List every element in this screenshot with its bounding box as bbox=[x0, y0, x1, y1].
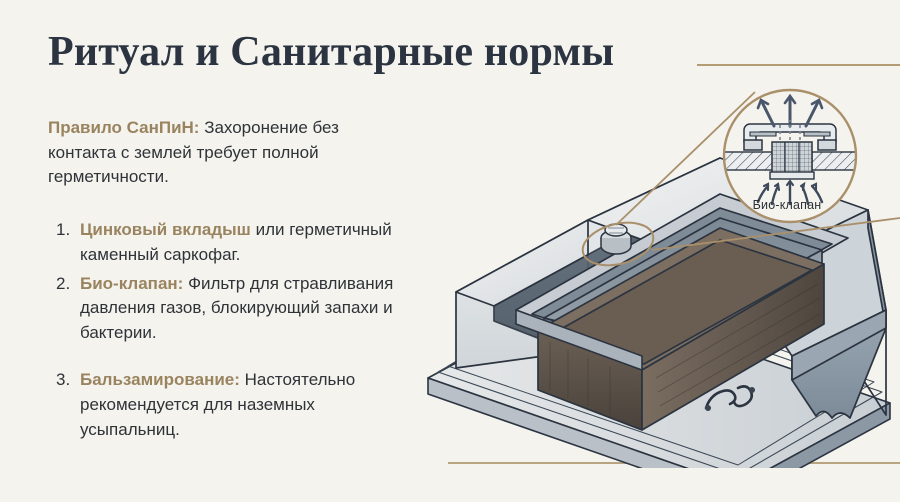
list-item-term: Бальзамирование: bbox=[80, 370, 240, 389]
filter-cartridge bbox=[770, 142, 814, 179]
title-rule-top bbox=[697, 64, 900, 66]
inset-label: Био-клапан bbox=[737, 198, 837, 212]
list-item-number: 2. bbox=[56, 272, 70, 297]
list-item-term: Био-клапан: bbox=[80, 274, 183, 293]
list-item: 3.Бальзамирование: Настоятельно рекоменд… bbox=[56, 368, 416, 442]
list-item-number: 3. bbox=[56, 368, 70, 393]
list-item: 2.Био-клапан: Фильтр для стравливания да… bbox=[56, 272, 416, 346]
slide-root: Ритуал и Санитарные нормы Правило СанПиН… bbox=[0, 0, 900, 502]
list-item: 1.Цинковый вкладыш или герметичный камен… bbox=[56, 218, 416, 268]
list-item-term: Цинковый вкладыш bbox=[80, 220, 251, 239]
lead-paragraph: Правило СанПиН: Захоронение без контакта… bbox=[48, 116, 398, 190]
requirements-list: 1.Цинковый вкладыш или герметичный камен… bbox=[56, 218, 416, 447]
page-title: Ритуал и Санитарные нормы bbox=[48, 28, 614, 76]
list-item-number: 1. bbox=[56, 218, 70, 243]
lead-label: Правило СанПиН: bbox=[48, 118, 199, 137]
bio-valve-fitting bbox=[601, 224, 631, 254]
